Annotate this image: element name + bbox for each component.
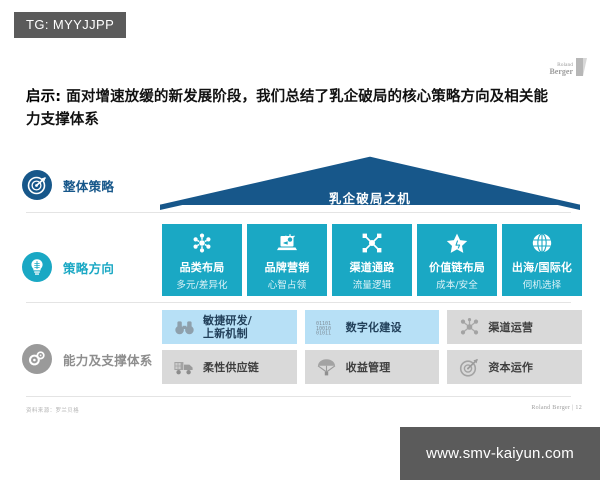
footer-brand-page: Roland Berger | 12 [531, 405, 582, 411]
card-title: 价值链布局 [429, 259, 485, 275]
svg-text:01011: 01011 [316, 330, 331, 334]
atom-icon [190, 231, 214, 255]
lightbulb-icon [22, 252, 52, 282]
divider-3 [26, 396, 571, 397]
target-dart-icon [22, 170, 52, 200]
roland-berger-mark-icon [576, 58, 587, 76]
card-subtitle: 流量逻辑 [353, 277, 391, 291]
title-lead: 启示: [26, 89, 61, 105]
capability-label: 资本运作 [488, 361, 533, 374]
row-label-direction-text: 策略方向 [63, 258, 114, 277]
strategy-card[interactable]: 品类布局 多元/差异化 [162, 224, 242, 296]
capability-item[interactable]: 柔性供应链 [162, 350, 297, 384]
card-subtitle: 伺机选择 [523, 277, 561, 291]
capability-label: 柔性供应链 [203, 361, 259, 374]
megaphone-screen-icon [275, 231, 299, 255]
site-watermark-badge: www.smv-kaiyun.com [400, 427, 600, 480]
roof-label: 乳企破局之机 [158, 188, 582, 207]
footer-source: 资料来源：罗兰贝格 [26, 406, 79, 414]
divider-1 [26, 212, 571, 213]
divider-2 [26, 302, 571, 303]
trophy-medal-icon [158, 162, 582, 184]
slide-canvas: Roland Berger 启示: 面对增速放缓的新发展阶段，我们总结了乳企破局… [0, 44, 600, 426]
strategy-card[interactable]: 出海/国际化 伺机选择 [502, 224, 582, 296]
capability-item[interactable]: 资本运作 [447, 350, 582, 384]
card-subtitle: 成本/安全 [436, 277, 478, 291]
star-icon [445, 231, 469, 255]
digital-data-icon: 01101 10010 01011 [316, 320, 338, 335]
strategy-card[interactable]: 渠道通路 流量逻辑 [332, 224, 412, 296]
roland-berger-logo: Roland Berger [549, 58, 587, 76]
capability-label: 渠道运营 [488, 321, 533, 334]
card-title: 品牌营销 [265, 259, 310, 275]
strategy-cards: 品类布局 多元/差异化 品牌营销 心智占领 [162, 224, 582, 296]
binoculars-icon [173, 319, 195, 336]
strategy-card[interactable]: 价值链布局 成本/安全 [417, 224, 497, 296]
logo-line-bottom: Berger [549, 68, 573, 76]
gears-icon [22, 344, 52, 374]
row-label-capability-text: 能力及支撑体系 [63, 350, 153, 369]
card-title: 品类布局 [180, 259, 225, 275]
capability-label: 数字化建设 [346, 321, 402, 334]
truck-icon [173, 359, 195, 375]
pyramid-roof: 乳企破局之机 [158, 154, 582, 212]
row-label-overall-text: 整体策略 [63, 176, 114, 195]
capability-item[interactable]: 渠道运营 [447, 310, 582, 344]
card-title: 出海/国际化 [512, 259, 572, 275]
strategy-card[interactable]: 品牌营销 心智占领 [247, 224, 327, 296]
card-title: 渠道通路 [350, 259, 395, 275]
page-title: 启示: 面对增速放缓的新发展阶段，我们总结了乳企破局的核心策略方向及相关能力支撑… [26, 86, 556, 132]
title-body: 面对增速放缓的新发展阶段，我们总结了乳企破局的核心策略方向及相关能力支撑体系 [26, 89, 548, 128]
row-label-capability-system: 能力及支撑体系 [22, 344, 153, 374]
capability-item[interactable]: 敏捷研发/上新机制 [162, 310, 297, 344]
capability-grid: 敏捷研发/上新机制 01101 10010 01011 数字化建设 [162, 310, 582, 384]
row-label-overall-strategy: 整体策略 [22, 170, 114, 200]
tg-watermark-badge: TG: MYYJJPP [14, 12, 126, 38]
capability-label: 敏捷研发/上新机制 [203, 314, 252, 340]
logo-wordmark: Roland Berger [549, 62, 573, 76]
network-nodes-icon [360, 231, 384, 255]
target-arrow-icon [458, 358, 480, 377]
parachute-icon [316, 358, 338, 376]
row-label-strategy-direction: 策略方向 [22, 252, 114, 282]
globe-icon [530, 231, 554, 255]
card-subtitle: 多元/差异化 [176, 277, 227, 291]
capability-item[interactable]: 收益管理 [305, 350, 440, 384]
capability-item[interactable]: 01101 10010 01011 数字化建设 [305, 310, 440, 344]
card-subtitle: 心智占领 [268, 277, 306, 291]
molecule-network-icon [458, 318, 480, 336]
capability-label: 收益管理 [346, 361, 391, 374]
